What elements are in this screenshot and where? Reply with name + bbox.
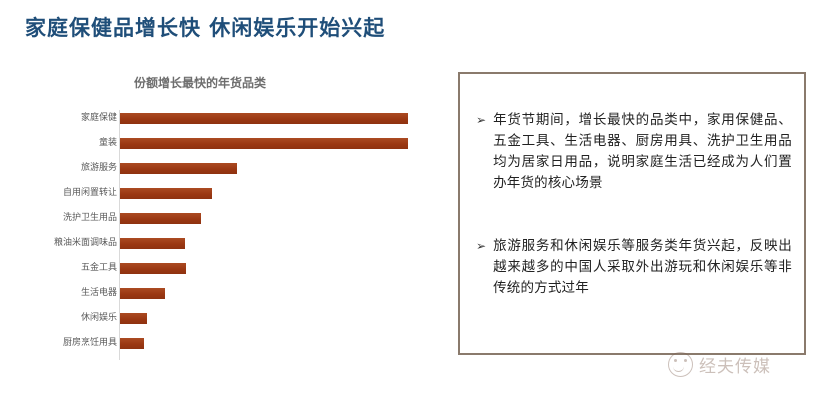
list-item: ➢ 旅游服务和休闲娱乐等服务类年货兴起，反映出越来越多的中国人采取外出游玩和休闲… xyxy=(476,236,792,299)
insights-panel: ➢ 年货节期间，增长最快的品类中，家用保健品、五金工具、生活电器、厨房用具、洗护… xyxy=(458,72,806,355)
chart-bar xyxy=(120,313,147,324)
chart-bar-fill xyxy=(120,188,212,199)
chart-category-label: 休闲娱乐 xyxy=(7,312,117,324)
chart-bar xyxy=(120,163,237,174)
chart-bar xyxy=(120,288,165,299)
insight-text: 年货节期间，增长最快的品类中，家用保健品、五金工具、生活电器、厨房用具、洗护卫生… xyxy=(493,110,792,194)
chart-bar-row: 童装 xyxy=(0,135,440,160)
chart-bar-fill xyxy=(120,213,201,224)
chart-bar xyxy=(120,263,186,274)
chart-category-label: 童装 xyxy=(7,137,117,149)
chart-category-label: 洗护卫生用品 xyxy=(7,212,117,224)
chart-category-label: 粮油米面调味品 xyxy=(7,237,117,249)
chart-bar xyxy=(120,113,408,124)
chart-bar-row: 生活电器 xyxy=(0,285,440,310)
chart-category-label: 五金工具 xyxy=(7,262,117,274)
chart-category-label: 自用闲置转让 xyxy=(7,187,117,199)
watermark-label: 经夫传媒 xyxy=(699,352,771,377)
chart-category-label: 旅游服务 xyxy=(7,162,117,174)
chart-bar-row: 粮油米面调味品 xyxy=(0,235,440,260)
chart-bar xyxy=(120,138,408,149)
chart-bar-row: 自用闲置转让 xyxy=(0,185,440,210)
chart-bar-fill xyxy=(120,288,165,299)
chart-bar-row: 家庭保健 xyxy=(0,110,440,135)
bullet-arrow-icon: ➢ xyxy=(476,236,486,257)
chart-bar-fill xyxy=(120,113,408,124)
insight-text: 旅游服务和休闲娱乐等服务类年货兴起，反映出越来越多的中国人采取外出游玩和休闲娱乐… xyxy=(493,236,792,299)
bar-chart: 份额增长最快的年货品类 家庭保健童装旅游服务自用闲置转让洗护卫生用品粮油米面调味… xyxy=(0,62,450,362)
slide-canvas: 家庭保健品增长快 休闲娱乐开始兴起 份额增长最快的年货品类 家庭保健童装旅游服务… xyxy=(0,0,831,400)
chart-bar-rows: 家庭保健童装旅游服务自用闲置转让洗护卫生用品粮油米面调味品五金工具生活电器休闲娱… xyxy=(0,110,440,360)
bullet-arrow-icon: ➢ xyxy=(476,110,486,131)
chart-bar-row: 洗护卫生用品 xyxy=(0,210,440,235)
watermark: 经夫传媒 xyxy=(668,352,771,377)
chart-bar-row: 厨房烹饪用具 xyxy=(0,335,440,360)
chart-category-label: 生活电器 xyxy=(7,287,117,299)
chart-bar-fill xyxy=(120,313,147,324)
chart-bar-fill xyxy=(120,238,185,249)
chart-title: 份额增长最快的年货品类 xyxy=(0,74,400,91)
smile-arc xyxy=(673,366,684,372)
smiley-face-icon xyxy=(668,352,693,377)
chart-plot-area: 家庭保健童装旅游服务自用闲置转让洗护卫生用品粮油米面调味品五金工具生活电器休闲娱… xyxy=(0,110,440,360)
chart-bar-fill xyxy=(120,138,408,149)
chart-category-label: 家庭保健 xyxy=(7,112,117,124)
chart-category-label: 厨房烹饪用具 xyxy=(7,337,117,349)
page-title: 家庭保健品增长快 休闲娱乐开始兴起 xyxy=(25,12,385,42)
chart-bar-row: 旅游服务 xyxy=(0,160,440,185)
chart-bar xyxy=(120,338,144,349)
chart-bar xyxy=(120,238,185,249)
list-item: ➢ 年货节期间，增长最快的品类中，家用保健品、五金工具、生活电器、厨房用具、洗护… xyxy=(476,110,792,194)
chart-bar-fill xyxy=(120,263,186,274)
chart-bar-row: 五金工具 xyxy=(0,260,440,285)
chart-bar xyxy=(120,213,201,224)
chart-bar-fill xyxy=(120,163,237,174)
chart-bar-row: 休闲娱乐 xyxy=(0,310,440,335)
chart-bar xyxy=(120,188,212,199)
chart-bar-fill xyxy=(120,338,144,349)
